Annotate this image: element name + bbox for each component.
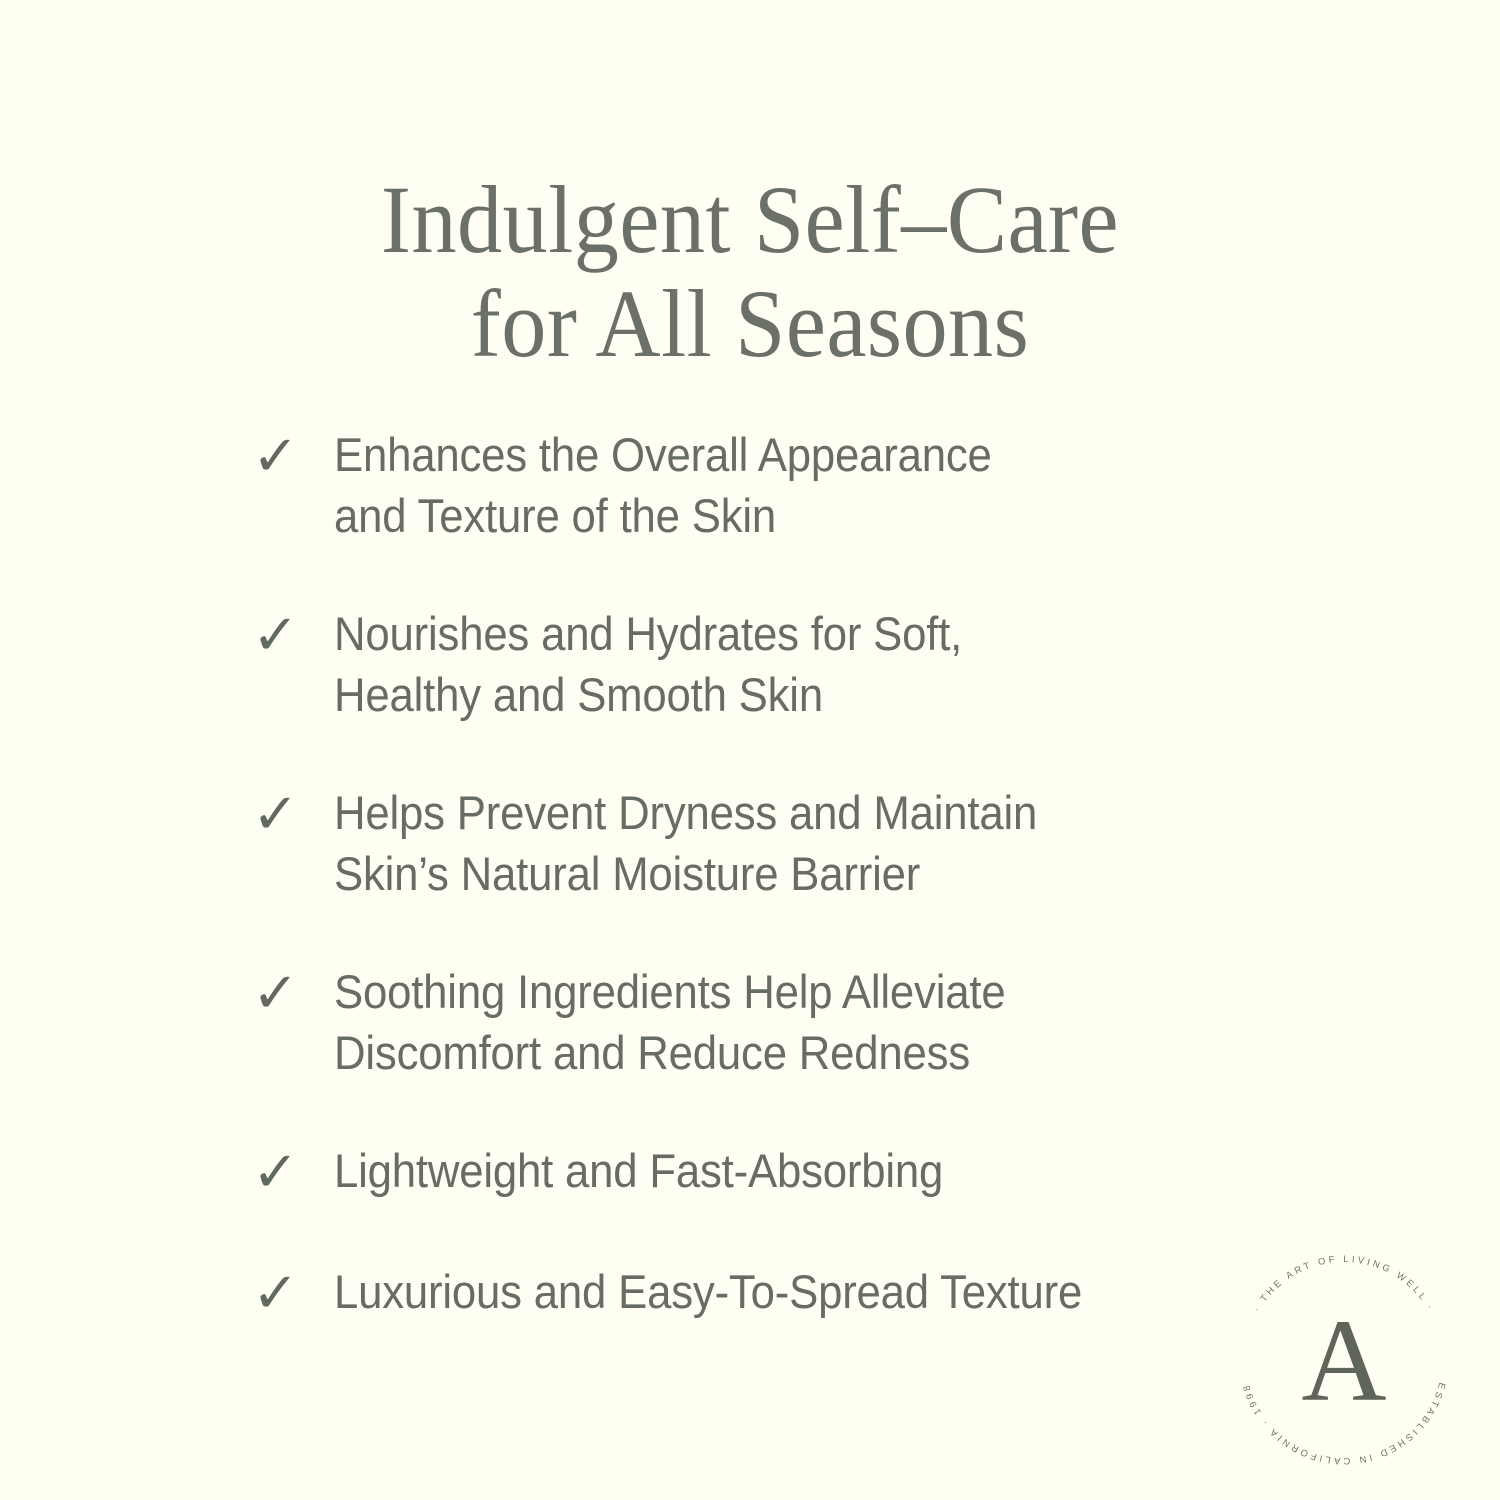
list-item: ✓ Luxurious and Easy-To-Spread Texture <box>252 1261 1252 1325</box>
page-title-line-1: Indulgent Self–Care <box>45 168 1455 272</box>
list-item: ✓ Helps Prevent Dryness and Maintain Ski… <box>252 782 1252 904</box>
page-title-line-2: for All Seasons <box>45 272 1455 376</box>
benefits-list: ✓ Enhances the Overall Appearance and Te… <box>252 424 1252 1382</box>
check-icon: ✓ <box>252 603 334 667</box>
promo-poster: Indulgent Self–Care for All Seasons ✓ En… <box>0 0 1500 1500</box>
benefit-text: Nourishes and Hydrates for Soft, Healthy… <box>334 603 1188 725</box>
check-icon: ✓ <box>252 424 334 488</box>
list-item: ✓ Lightweight and Fast-Absorbing <box>252 1140 1252 1204</box>
page-title: Indulgent Self–Care for All Seasons <box>0 168 1500 376</box>
logo-monogram-letter: A <box>1301 1295 1386 1426</box>
list-item: ✓ Soothing Ingredients Help Alleviate Di… <box>252 961 1252 1083</box>
benefit-text: Helps Prevent Dryness and Maintain Skin’… <box>334 782 1188 904</box>
list-item: ✓ Nourishes and Hydrates for Soft, Healt… <box>252 603 1252 725</box>
check-icon: ✓ <box>252 961 334 1025</box>
check-icon: ✓ <box>252 782 334 846</box>
benefit-text: Soothing Ingredients Help Alleviate Disc… <box>334 961 1188 1083</box>
benefit-text: Enhances the Overall Appearance and Text… <box>334 424 1188 546</box>
benefit-text: Luxurious and Easy-To-Spread Texture <box>334 1261 1188 1322</box>
brand-logo: · THE ART OF LIVING WELL · ESTABLISHED I… <box>1232 1248 1456 1472</box>
benefit-text: Lightweight and Fast-Absorbing <box>334 1140 1188 1201</box>
list-item: ✓ Enhances the Overall Appearance and Te… <box>252 424 1252 546</box>
check-icon: ✓ <box>252 1261 334 1325</box>
check-icon: ✓ <box>252 1140 334 1204</box>
